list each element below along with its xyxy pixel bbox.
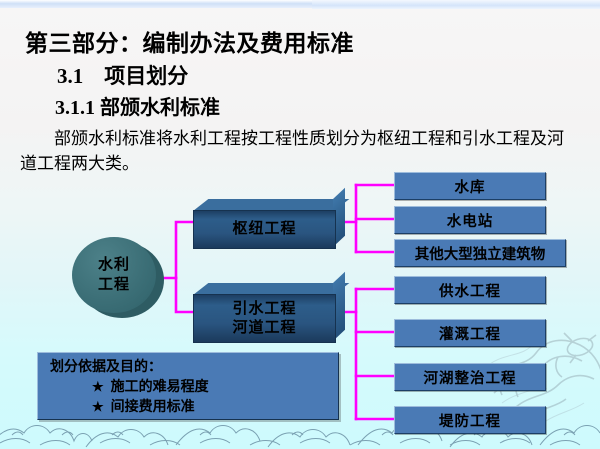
branch-node-2-label-line2: 河道工程 [232,319,296,338]
branch-node-1-label: 枢纽工程 [232,220,296,239]
branch-node-1-face: 枢纽工程 [193,210,336,249]
leaf-node-1-label: 水库 [455,176,486,197]
top-decor-bar-right [312,0,600,9]
note-bullet-2: ★ 间接费用标准 [50,397,338,417]
body-paragraph: 部颁水利标准将水利工程按工程性质划分为枢纽工程和引水工程及河道工程两大类。 [20,126,580,176]
leaf-node-3-label: 其他大型独立建筑物 [415,243,546,264]
section-number: 3.1 [57,64,83,88]
root-label-line1: 水利 [98,255,130,275]
note-bullet-1-text: 施工的难易程度 [111,380,209,395]
subsection-heading: 3.1.1 部颁水利标准 [55,91,220,120]
leaf-node-4: 供水工程 [394,276,546,304]
root-node: 水利 工程 [72,237,172,319]
branch-node-2: 引水工程 河道工程 [193,283,334,341]
note-bullet-1: ★ 施工的难易程度 [50,377,338,397]
branch-node-1: 枢纽工程 [193,199,334,247]
leaf-node-6: 河湖整治工程 [394,363,546,391]
leaf-node-4-label: 供水工程 [439,280,501,301]
leaf-node-1: 水库 [394,172,546,200]
note-bullet-2-text: 间接费用标准 [111,400,195,415]
star-icon: ★ [92,379,104,394]
section-heading: 3.1 项目划分 [57,60,188,90]
slide-canvas: 第三部分：编制办法及费用标准 3.1 项目划分 3.1.1 部颁水利标准 部颁水… [0,0,600,449]
root-node-face: 水利 工程 [72,237,156,313]
branch-node-2-label-line1: 引水工程 [232,300,296,319]
leaf-node-7-label: 堤防工程 [439,410,501,431]
leaf-node-6-label: 河湖整治工程 [424,367,517,388]
page-title: 第三部分：编制办法及费用标准 [25,24,354,58]
note-box: 划分依据及目的： ★ 施工的难易程度 ★ 间接费用标准 [37,352,339,420]
note-heading: 划分依据及目的： [50,358,338,377]
leaf-node-2-label: 水电站 [447,210,494,231]
branch-node-2-face: 引水工程 河道工程 [193,294,336,343]
section-title: 项目划分 [104,64,188,88]
leaf-node-3: 其他大型独立建筑物 [394,239,566,267]
leaf-node-7: 堤防工程 [394,406,546,434]
leaf-node-5-label: 灌溉工程 [439,323,501,344]
leaf-node-5: 灌溉工程 [394,319,546,347]
leaf-node-2: 水电站 [394,206,546,234]
root-label-line2: 工程 [98,275,130,295]
top-decor-bar-left [0,0,312,8]
star-icon: ★ [92,399,104,414]
